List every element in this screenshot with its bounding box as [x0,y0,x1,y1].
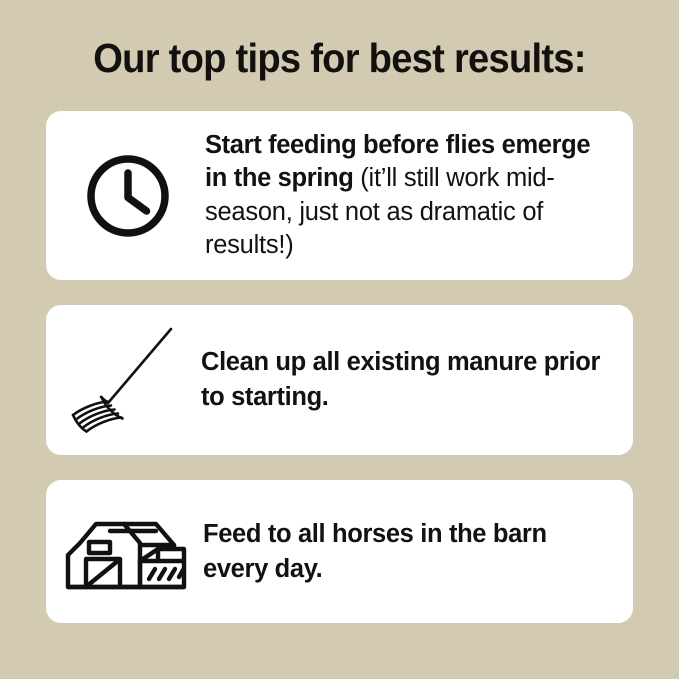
tip-icon-wrap-1 [46,154,205,238]
tip-text-strong-3: Feed to all horses in the barn every day… [203,520,547,583]
clock-icon [86,154,170,238]
tip-text-2: Clean up all existing manure prior to st… [201,345,633,415]
tip-card-1: Start feeding before flies emerge in the… [46,111,633,280]
tip-icon-wrap-2 [46,320,201,440]
rake-icon [63,320,185,440]
tips-poster: Our top tips for best results: Start fee… [0,0,679,679]
tips-list: Start feeding before flies emerge in the… [46,111,633,623]
tip-card-2: Clean up all existing manure prior to st… [46,305,633,455]
tip-text-3: Feed to all horses in the barn every day… [203,517,633,587]
barn-icon [63,509,189,595]
tip-text-strong-2: Clean up all existing manure prior to st… [201,348,600,411]
tip-card-3: Feed to all horses in the barn every day… [46,480,633,623]
tip-icon-wrap-3 [46,509,203,595]
page-title: Our top tips for best results: [24,34,655,82]
tip-text-1: Start feeding before flies emerge in the… [205,129,633,263]
